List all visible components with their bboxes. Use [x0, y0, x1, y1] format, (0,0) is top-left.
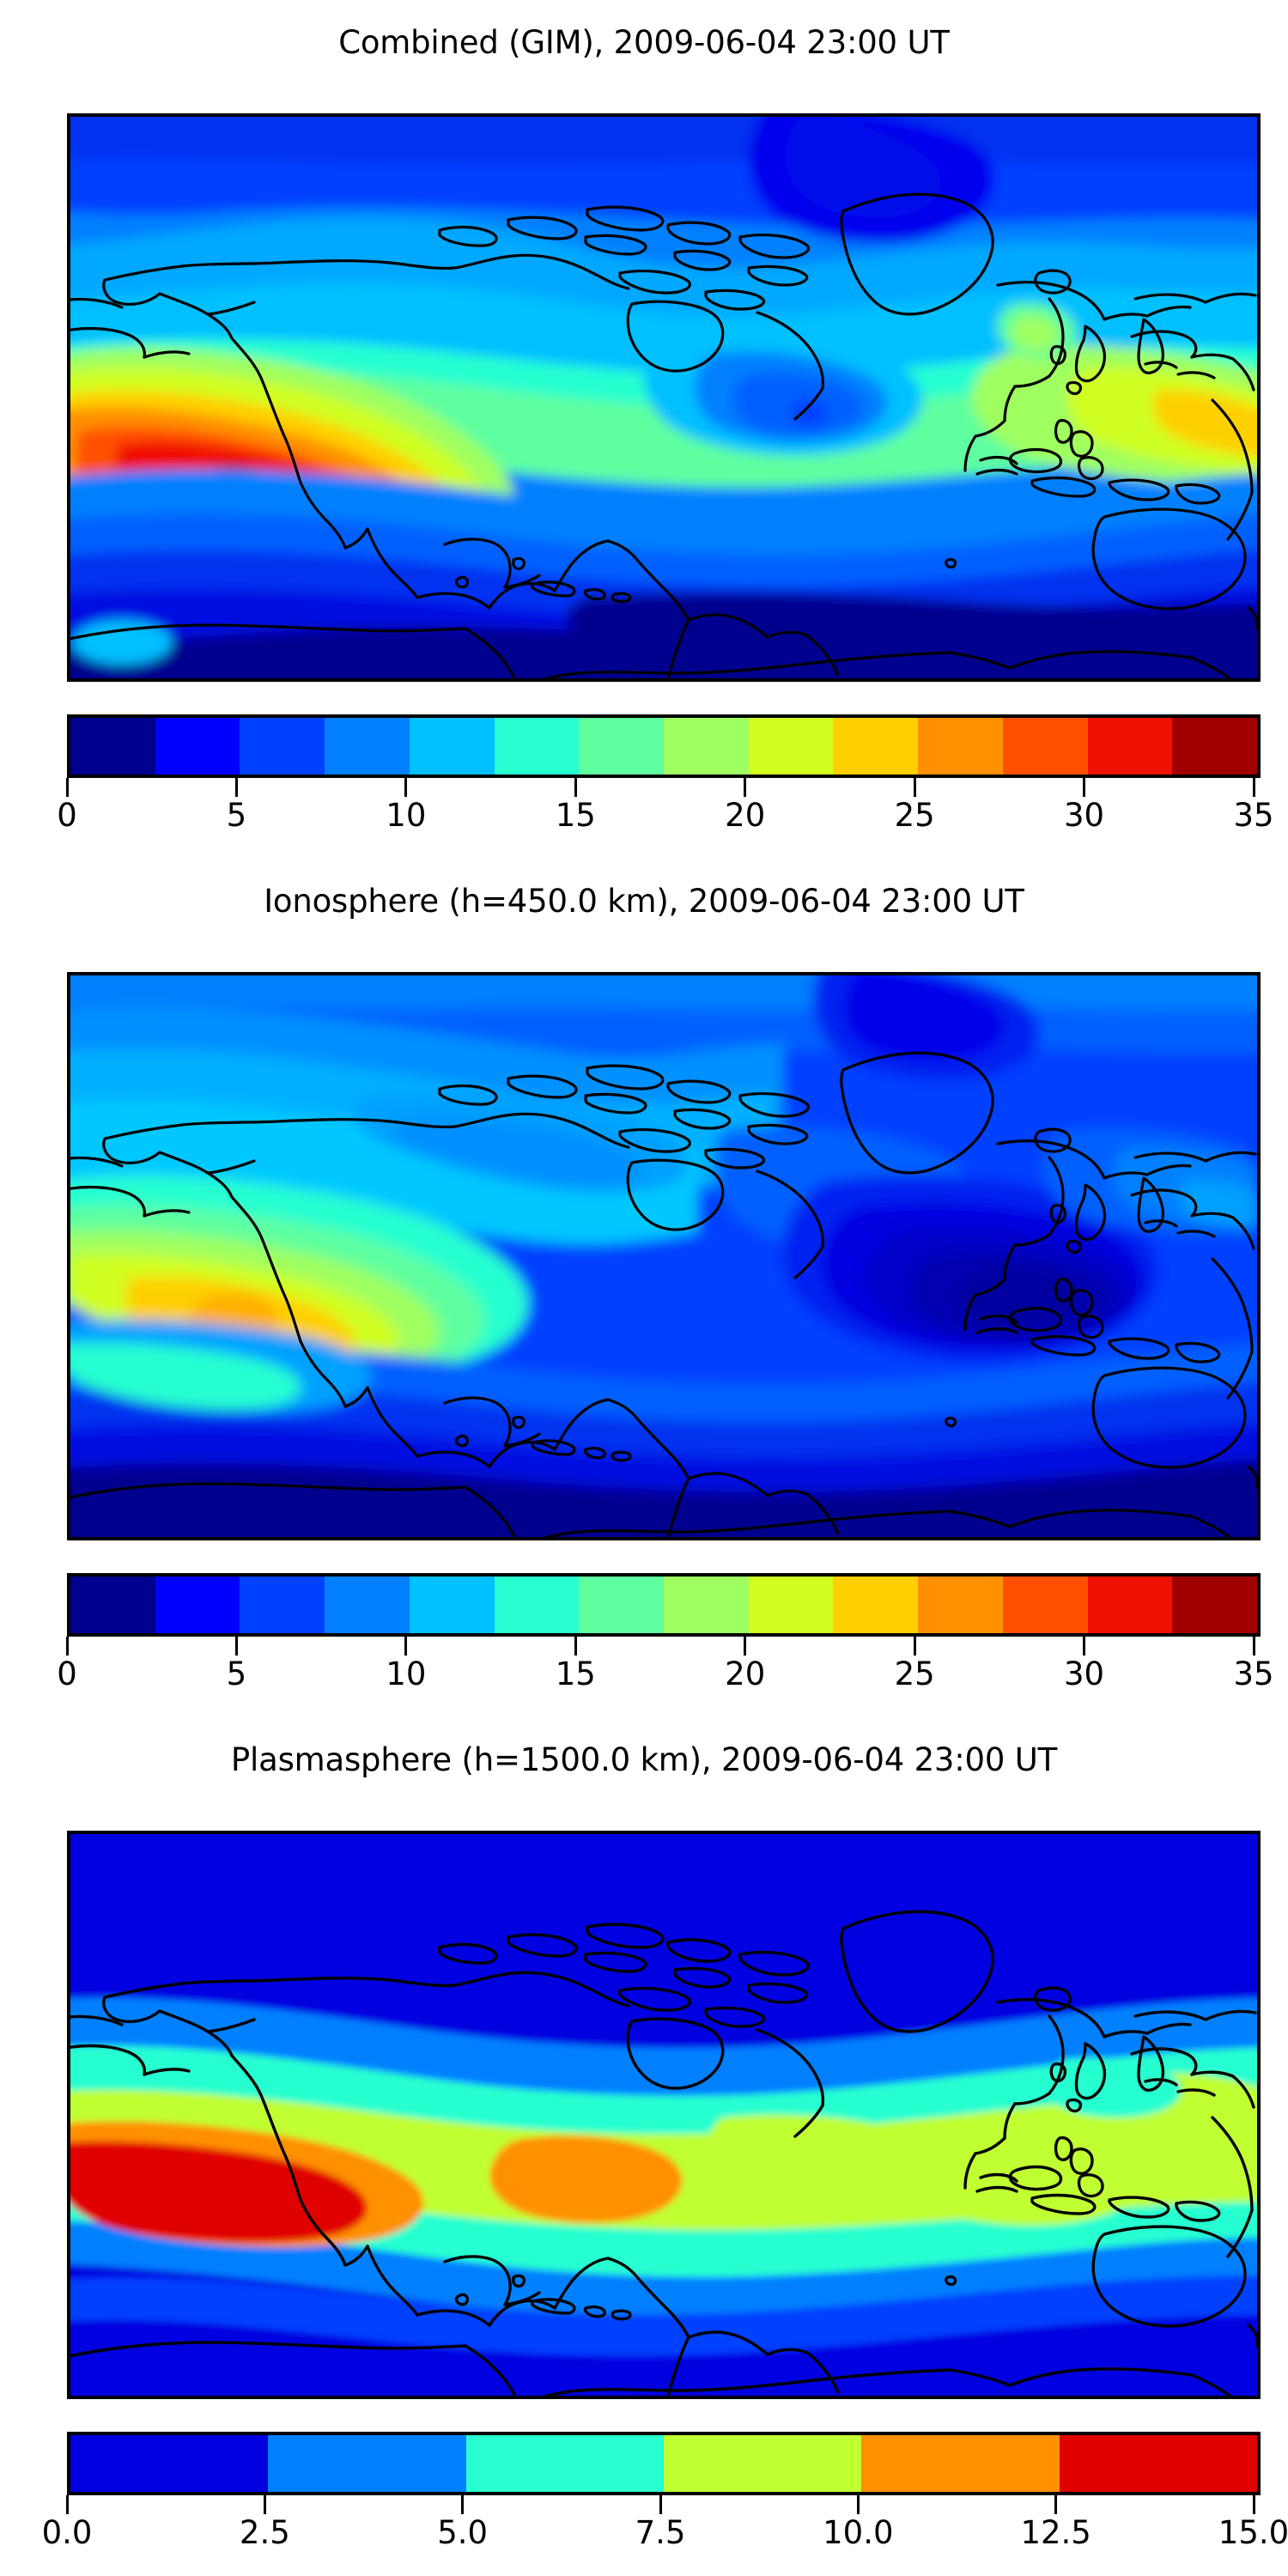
colorbar-segment-8	[749, 1577, 834, 1633]
colorbar-tick-1	[235, 778, 238, 797]
colorbar-tick-label-2: 10	[386, 797, 426, 834]
panel-plasmasphere-1500: Plasmasphere (h=1500.0 km), 2009-06-04 2…	[0, 1717, 1288, 2576]
colorbar-tick-5	[1054, 2495, 1057, 2514]
colorbar-tick-label-3: 7.5	[635, 2514, 686, 2551]
colorbar-segment-3	[325, 1577, 410, 1633]
colorbar-combined: 05101520253035	[67, 714, 1254, 840]
colorbar-tick-label-2: 10	[386, 1656, 426, 1692]
colorbar-tick-label-3: 15	[556, 1656, 596, 1692]
colorbar-segment-5	[495, 718, 580, 775]
colorbar-tick-5	[914, 1637, 916, 1656]
colorbar-labels-ionosphere: 05101520253035	[64, 1656, 1257, 1698]
colorbar-labels-combined: 05101520253035	[64, 797, 1257, 840]
colorbar-segment-1	[155, 718, 240, 775]
colorbar-segment-5	[1060, 2435, 1257, 2492]
colorbar-ionosphere: 05101520253035	[67, 1573, 1254, 1698]
colorbar-segment-12	[1088, 718, 1173, 775]
colorbar-segment-9	[833, 718, 918, 775]
colorbar-ticks-plasmasphere	[64, 2495, 1257, 2514]
colorbar-segment-11	[1003, 1577, 1088, 1633]
colorbar-tick-label-2: 5.0	[437, 2514, 488, 2551]
colorbar-gradient-ionosphere[interactable]	[67, 1573, 1261, 1637]
colorbar-gradient-combined[interactable]	[67, 714, 1261, 778]
colorbar-tick-label-7: 35	[1233, 1656, 1273, 1692]
colorbar-tick-4	[857, 2495, 860, 2514]
colorbar-segment-13	[1172, 1577, 1257, 1633]
contour-fill-combined	[70, 117, 1257, 678]
colorbar-plasmasphere: 0.02.55.07.510.012.515.0	[67, 2432, 1254, 2557]
colorbar-tick-7	[1253, 1637, 1255, 1656]
colorbar-tick-label-5: 25	[895, 797, 935, 834]
colorbar-tick-7	[1253, 778, 1255, 797]
colorbar-segment-11	[1003, 718, 1088, 775]
colorbar-tick-label-6: 15.0	[1218, 2514, 1288, 2551]
colorbar-tick-label-0: 0.0	[42, 2514, 93, 2551]
colorbar-segment-6	[579, 1577, 664, 1633]
colorbar-tick-2	[461, 2495, 464, 2514]
colorbar-tick-label-7: 35	[1233, 797, 1273, 834]
colorbar-gradient-plasmasphere[interactable]	[67, 2432, 1261, 2495]
colorbar-segment-8	[749, 718, 834, 775]
colorbar-tick-4	[744, 1637, 746, 1656]
map-plasmasphere-1500[interactable]	[67, 1831, 1261, 2399]
colorbar-tick-label-1: 2.5	[240, 2514, 290, 2551]
colorbar-tick-6	[1253, 2495, 1255, 2514]
colorbar-tick-label-0: 0	[57, 1656, 77, 1692]
panel-title-combined: Combined (GIM), 2009-06-04 23:00 UT	[0, 24, 1288, 61]
colorbar-tick-label-6: 30	[1064, 797, 1104, 834]
colorbar-ticks-ionosphere	[64, 1637, 1257, 1656]
colorbar-segment-4	[410, 1577, 495, 1633]
map-canvas-combined	[70, 117, 1257, 678]
colorbar-tick-label-4: 10.0	[823, 2514, 893, 2551]
colorbar-segment-0	[70, 718, 155, 775]
panel-combined-gim: Combined (GIM), 2009-06-04 23:00 UT	[0, 0, 1288, 859]
colorbar-tick-4	[744, 778, 746, 797]
map-canvas-plasmasphere	[70, 1834, 1257, 2396]
colorbar-segment-7	[664, 1577, 749, 1633]
colorbar-tick-label-1: 5	[227, 1656, 247, 1692]
map-ionosphere-450[interactable]	[67, 972, 1261, 1540]
panel-ionosphere-450: Ionosphere (h=450.0 km), 2009-06-04 23:0…	[0, 859, 1288, 1717]
colorbar-tick-3	[659, 2495, 662, 2514]
colorbar-tick-2	[404, 778, 407, 797]
colorbar-tick-6	[1083, 778, 1085, 797]
colorbar-segment-7	[664, 718, 749, 775]
colorbar-tick-0	[66, 2495, 69, 2514]
colorbar-segment-1	[268, 2435, 465, 2492]
colorbar-segment-2	[466, 2435, 664, 2492]
colorbar-ticks-combined	[64, 778, 1257, 797]
colorbar-segment-12	[1088, 1577, 1173, 1633]
map-combined-gim[interactable]	[67, 113, 1261, 682]
contour-fill-ionosphere	[70, 975, 1257, 1537]
figure-canvas: Combined (GIM), 2009-06-04 23:00 UT	[0, 0, 1288, 2576]
colorbar-segment-0	[70, 1577, 155, 1633]
colorbar-tick-1	[235, 1637, 238, 1656]
colorbar-segment-2	[240, 718, 325, 775]
colorbar-segment-1	[155, 1577, 240, 1633]
colorbar-tick-2	[404, 1637, 407, 1656]
colorbar-segment-4	[410, 718, 495, 775]
colorbar-tick-0	[66, 778, 69, 797]
colorbar-tick-label-4: 20	[725, 1656, 765, 1692]
contour-fill-plasmasphere	[70, 1834, 1257, 2396]
colorbar-tick-label-6: 30	[1064, 1656, 1104, 1692]
colorbar-segment-10	[918, 718, 1003, 775]
colorbar-labels-plasmasphere: 0.02.55.07.510.012.515.0	[64, 2514, 1257, 2557]
colorbar-tick-label-4: 20	[725, 797, 765, 834]
colorbar-segment-9	[833, 1577, 918, 1633]
colorbar-tick-3	[574, 1637, 577, 1656]
panel-title-ionosphere: Ionosphere (h=450.0 km), 2009-06-04 23:0…	[0, 883, 1288, 920]
colorbar-segment-4	[861, 2435, 1059, 2492]
colorbar-segment-13	[1172, 718, 1257, 775]
colorbar-segment-10	[918, 1577, 1003, 1633]
colorbar-tick-label-1: 5	[227, 797, 247, 834]
colorbar-tick-label-3: 15	[556, 797, 596, 834]
colorbar-tick-1	[264, 2495, 266, 2514]
colorbar-tick-label-5: 25	[895, 1656, 935, 1692]
panel-title-plasmasphere: Plasmasphere (h=1500.0 km), 2009-06-04 2…	[0, 1741, 1288, 1778]
colorbar-segment-5	[495, 1577, 580, 1633]
colorbar-tick-0	[66, 1637, 69, 1656]
colorbar-tick-label-0: 0	[57, 797, 77, 834]
colorbar-tick-6	[1083, 1637, 1085, 1656]
colorbar-segment-2	[240, 1577, 325, 1633]
colorbar-tick-label-5: 12.5	[1020, 2514, 1091, 2551]
map-canvas-ionosphere	[70, 975, 1257, 1537]
colorbar-segment-0	[70, 2435, 268, 2492]
colorbar-tick-3	[574, 778, 577, 797]
colorbar-tick-5	[914, 778, 916, 797]
colorbar-segment-3	[664, 2435, 861, 2492]
colorbar-segment-3	[325, 718, 410, 775]
colorbar-segment-6	[579, 718, 664, 775]
